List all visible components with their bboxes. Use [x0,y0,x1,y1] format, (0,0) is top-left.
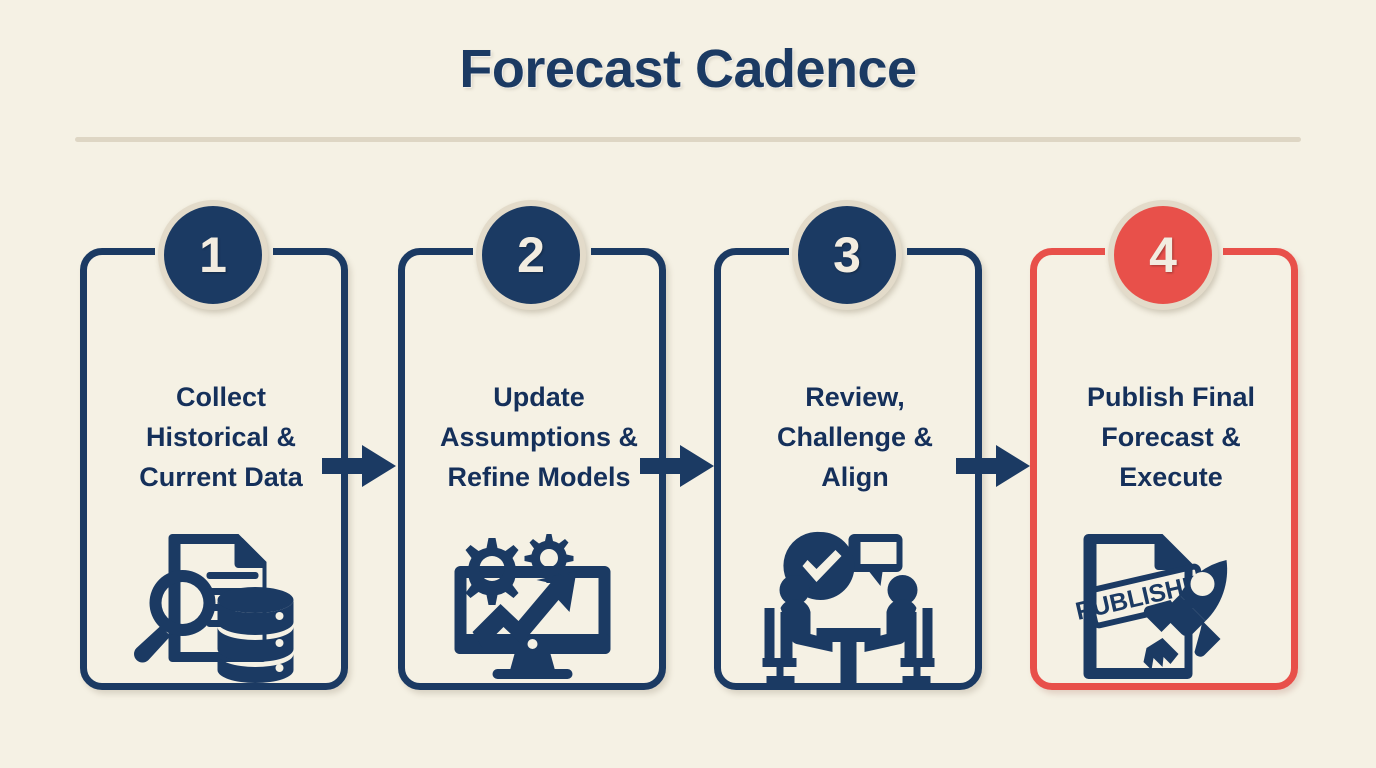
step-number: 2 [517,226,545,284]
published-document-rocket-icon: PUBLISHED [1072,525,1257,685]
monitor-chart-gears-icon [440,525,625,685]
step-number-circle-3[interactable]: 3 [792,200,902,310]
step-label-line: Update [419,377,659,417]
step-label-1: Collect Historical & Current Data [101,377,341,497]
step-label-line: Refine Models [419,457,659,497]
meeting-people-checkmark-icon [756,525,941,685]
step-number-circle-2[interactable]: 2 [476,200,586,310]
step-label-line: Review, [735,377,975,417]
step-label-line: Historical & [101,417,341,457]
arrow-3-to-4 [956,443,1032,489]
process-flow: Collect Historical & Current Data [0,200,1376,720]
step-card-2[interactable]: Update Assumptions & Refine Models [398,248,666,690]
step-number: 1 [199,226,227,284]
step-number: 4 [1149,226,1177,284]
step-label-line: Execute [1051,457,1291,497]
step-label-line: Collect [101,377,341,417]
step-label-3: Review, Challenge & Align [735,377,975,497]
document-magnifier-database-icon [122,525,307,685]
step-card-1[interactable]: Collect Historical & Current Data [80,248,348,690]
step-label-line: Align [735,457,975,497]
title-divider [75,137,1301,142]
step-card-4[interactable]: Publish Final Forecast & Execute PUBLISH… [1030,248,1298,690]
step-label-line: Forecast & [1051,417,1291,457]
step-number-circle-4[interactable]: 4 [1108,200,1218,310]
step-number: 3 [833,226,861,284]
step-label-line: Challenge & [735,417,975,457]
step-label-line: Current Data [101,457,341,497]
step-label-line: Publish Final [1051,377,1291,417]
arrow-1-to-2 [322,443,398,489]
step-label-4: Publish Final Forecast & Execute [1051,377,1291,497]
arrow-2-to-3 [640,443,716,489]
step-card-3[interactable]: Review, Challenge & Align [714,248,982,690]
step-label-2: Update Assumptions & Refine Models [419,377,659,497]
step-number-circle-1[interactable]: 1 [158,200,268,310]
page-title: Forecast Cadence [0,38,1376,100]
step-label-line: Assumptions & [419,417,659,457]
